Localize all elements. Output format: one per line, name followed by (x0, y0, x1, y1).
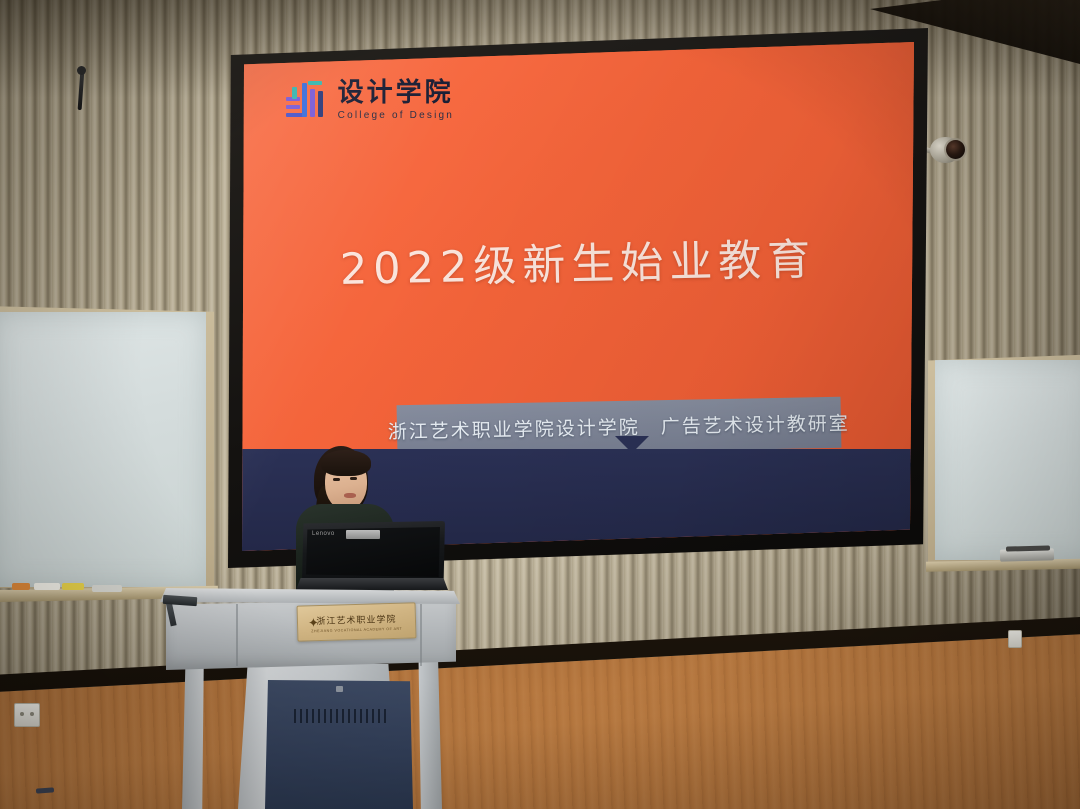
laptop-brand-label: Lenovo (312, 531, 335, 537)
microphone-head-icon (77, 66, 86, 75)
whiteboard-surface (0, 312, 206, 587)
lecture-hall-photo: 设计学院 College of Design 2022级新生始业教育 浙江艺术职… (0, 0, 1080, 809)
college-of-design-logo-mark-icon (286, 81, 328, 121)
power-outlet-left (14, 703, 40, 727)
marker-yellow (62, 583, 84, 590)
power-outlet-right (1008, 630, 1022, 648)
eye-left (333, 478, 340, 481)
logo-chinese-name: 设计学院 (338, 80, 454, 106)
outlet-hole (30, 712, 34, 716)
podium-seam (420, 604, 422, 666)
laptop-sticker (346, 530, 380, 539)
plaque-chinese: 浙江艺术职业学院 (316, 611, 396, 626)
marker-grey (92, 585, 122, 592)
laptop-base (296, 578, 448, 590)
podium-plaque: ✦ 浙江艺术职业学院 ZHEJIANG VOCATIONAL ACADEMY O… (297, 602, 417, 641)
marker-orange (12, 583, 30, 590)
whiteboard-right (928, 354, 1080, 569)
cabinet-vents (294, 709, 386, 723)
logo-english-name: College of Design (338, 111, 454, 121)
camera-lens-icon (946, 140, 965, 159)
college-logo: 设计学院 College of Design (286, 80, 454, 121)
podium-seam (236, 604, 238, 666)
whiteboard-surface (935, 360, 1080, 560)
mouth (344, 493, 356, 498)
plaque-english: ZHEJIANG VOCATIONAL ACADEMY OF ART (311, 626, 402, 633)
outlet-hole (20, 712, 24, 716)
marker-white (34, 583, 60, 590)
hair-front (321, 450, 371, 476)
whiteboard-left (0, 306, 214, 596)
cabinet-lock-icon[interactable] (336, 686, 343, 692)
podium-cabinet-door[interactable] (265, 680, 413, 809)
eye-right (350, 477, 357, 480)
slide-title: 2022级新生始业教育 (242, 223, 914, 299)
academy-logo-icon: ✦ (308, 616, 321, 631)
logo-text: 设计学院 College of Design (338, 80, 454, 121)
